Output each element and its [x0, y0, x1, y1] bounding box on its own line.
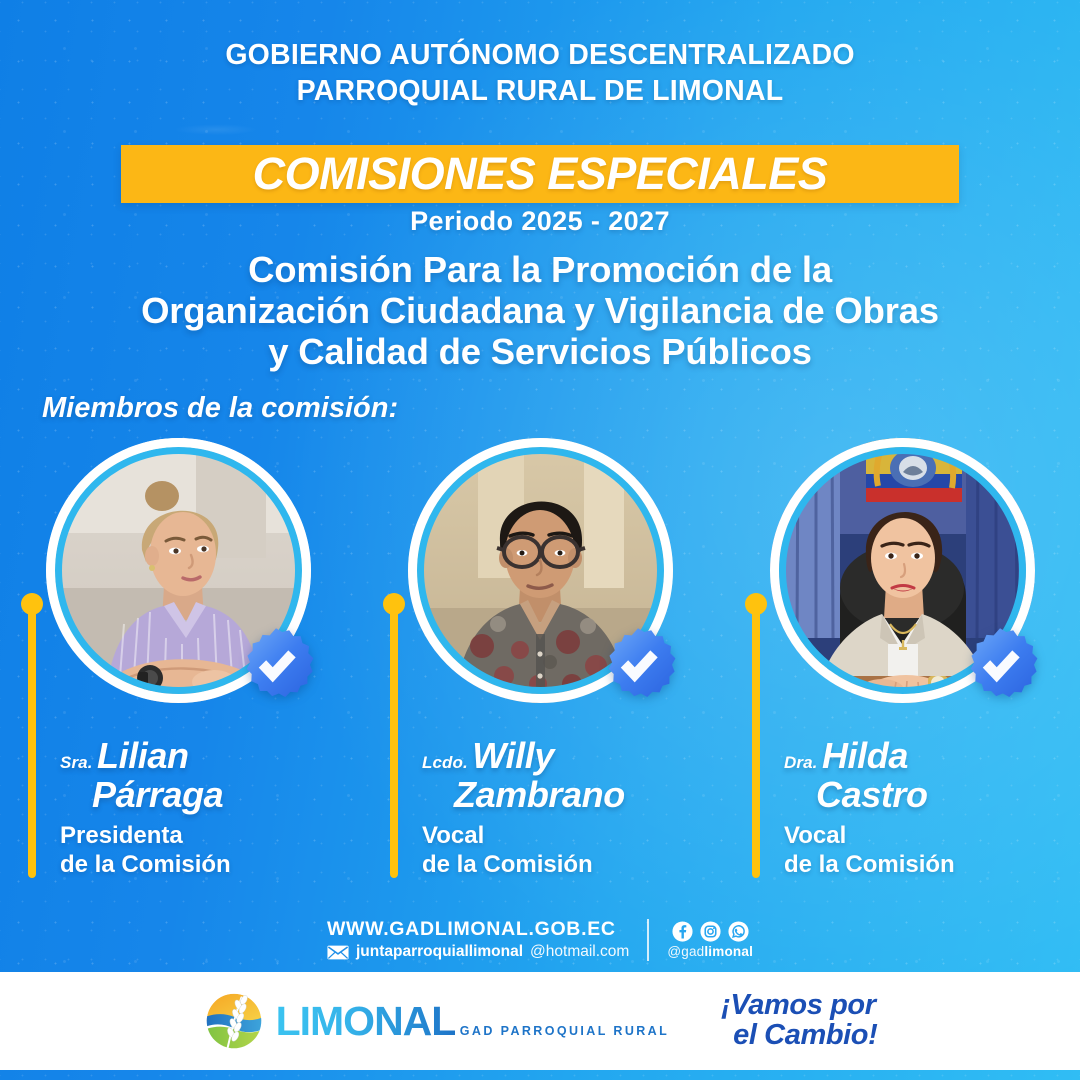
member-last-name: Párraga: [60, 777, 350, 813]
handle-name: limonal: [704, 944, 753, 959]
commission-title-line-3: y Calidad de Servicios Públicos: [0, 332, 1080, 373]
poster-canvas: GOBIERNO AUTÓNOMO DESCENTRALIZADO PARROQ…: [0, 0, 1080, 1080]
whatsapp-icon[interactable]: [728, 921, 749, 942]
member-name: Dra. Hilda Castro: [784, 738, 1074, 813]
members-label: Miembros de la comisión:: [42, 392, 398, 425]
member-role-line-2: de la Comisión: [784, 850, 1074, 879]
member-role-line-2: de la Comisión: [60, 850, 350, 879]
email-domain: @hotmail.com: [530, 943, 629, 962]
banner-word-especiales: ESPECIALES: [547, 148, 827, 199]
contact-left: WWW.GADLIMONAL.GOB.EC juntaparroquiallim…: [327, 918, 629, 962]
verified-badge-icon: [597, 625, 679, 707]
member-card: Dra. Hilda Castro Vocal de la Comisión: [732, 438, 1072, 703]
members-row: Sra. Lilian Párraga Presidenta de la Com…: [0, 438, 1080, 703]
email-user: juntaparroquiallimonal: [356, 943, 523, 962]
tagline-line-1: ¡Vamos por: [721, 991, 877, 1021]
member-card: Sra. Lilian Párraga Presidenta de la Com…: [8, 438, 348, 703]
facebook-icon[interactable]: [672, 921, 693, 942]
member-honorific: Dra.: [784, 753, 817, 772]
institution-header: GOBIERNO AUTÓNOMO DESCENTRALIZADO PARROQ…: [0, 38, 1080, 110]
accent-bar: [390, 600, 398, 878]
member-last-name: Zambrano: [422, 777, 712, 813]
member-name: Lcdo. Willy Zambrano: [422, 738, 712, 813]
handle-prefix: @gad: [667, 944, 704, 959]
member-card: Lcdo. Willy Zambrano Vocal de la Comisió…: [370, 438, 710, 703]
limonal-emblem-icon: [203, 990, 265, 1052]
limonal-subtitle: GAD PARROQUIAL RURAL: [460, 1024, 669, 1038]
member-role-line-1: Vocal: [422, 821, 712, 850]
member-photo-wrap: [408, 438, 673, 703]
header-line-2: PARROQUIAL RURAL DE LIMONAL: [0, 74, 1080, 110]
banner-container: COMISIONES ESPECIALES: [0, 145, 1080, 203]
verified-badge-icon: [235, 625, 317, 707]
member-role: Vocal de la Comisión: [422, 821, 712, 880]
contact-divider: [647, 919, 649, 961]
website-link[interactable]: WWW.GADLIMONAL.GOB.EC: [327, 918, 629, 941]
member-role-line-2: de la Comisión: [422, 850, 712, 879]
accent-bar: [28, 600, 36, 878]
member-first-name: Lilian: [97, 735, 189, 776]
limonal-logo: LIMONAL GAD PARROQUIAL RURAL: [203, 990, 670, 1052]
footer-bar: LIMONAL GAD PARROQUIAL RURAL ¡Vamos por …: [0, 972, 1080, 1070]
contact-strip: WWW.GADLIMONAL.GOB.EC juntaparroquiallim…: [0, 918, 1080, 962]
comisiones-especiales-banner: COMISIONES ESPECIALES: [121, 145, 959, 203]
member-first-name: Hilda: [822, 735, 908, 776]
email-row[interactable]: juntaparroquiallimonal@hotmail.com: [327, 943, 629, 962]
accent-bar: [752, 600, 760, 878]
member-role-line-1: Presidenta: [60, 821, 350, 850]
envelope-icon: [327, 945, 349, 960]
member-photo-wrap: [770, 438, 1035, 703]
instagram-icon[interactable]: [700, 921, 721, 942]
commission-title-line-2: Organización Ciudadana y Vigilancia de O…: [0, 291, 1080, 332]
member-honorific: Sra.: [60, 753, 93, 772]
banner-text: COMISIONES ESPECIALES: [253, 151, 828, 196]
social-handle: @gadlimonal: [667, 944, 753, 959]
member-name-block: Dra. Hilda Castro Vocal de la Comisión: [784, 738, 1074, 880]
member-last-name: Castro: [784, 777, 1074, 813]
member-first-name: Willy: [472, 735, 554, 776]
commission-title: Comisión Para la Promoción de la Organiz…: [0, 250, 1080, 373]
member-name-block: Sra. Lilian Párraga Presidenta de la Com…: [60, 738, 350, 880]
tagline: ¡Vamos por el Cambio!: [721, 991, 877, 1050]
header-line-1: GOBIERNO AUTÓNOMO DESCENTRALIZADO: [0, 38, 1080, 74]
limonal-word: LIMONAL: [276, 998, 456, 1044]
periodo-label: Periodo 2025 - 2027: [0, 206, 1080, 237]
banner-word-comisiones: COMISIONES: [253, 148, 536, 199]
member-name-block: Lcdo. Willy Zambrano Vocal de la Comisió…: [422, 738, 712, 880]
member-role: Presidenta de la Comisión: [60, 821, 350, 880]
verified-badge-icon: [959, 625, 1041, 707]
member-photo-wrap: [46, 438, 311, 703]
limonal-wordmark: LIMONAL GAD PARROQUIAL RURAL: [276, 1001, 670, 1042]
commission-title-line-1: Comisión Para la Promoción de la: [0, 250, 1080, 291]
member-honorific: Lcdo.: [422, 753, 468, 772]
social-block: @gadlimonal: [667, 921, 753, 959]
member-role: Vocal de la Comisión: [784, 821, 1074, 880]
member-name: Sra. Lilian Párraga: [60, 738, 350, 813]
tagline-line-2: el Cambio!: [721, 1021, 877, 1051]
social-icons: [667, 921, 753, 942]
member-role-line-1: Vocal: [784, 821, 1074, 850]
